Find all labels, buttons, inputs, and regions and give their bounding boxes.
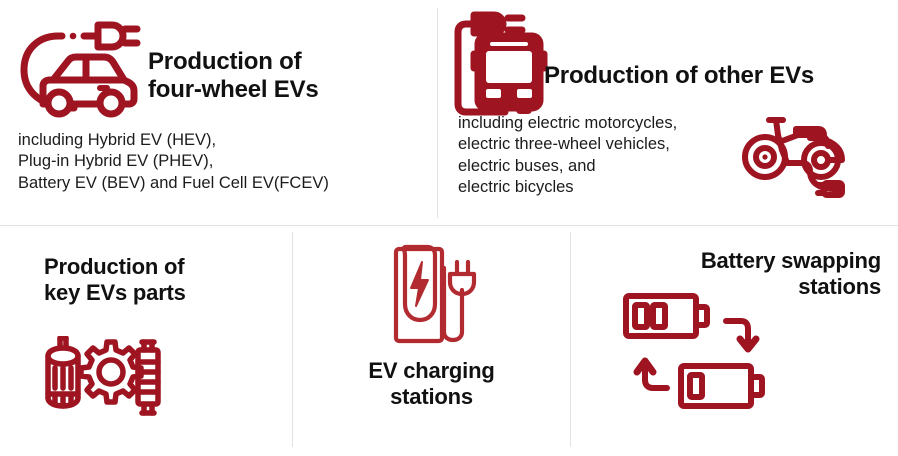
battery-swap-icon <box>623 288 813 418</box>
panel-ev-charging-stations: EV charging stations <box>293 226 570 456</box>
panel-heading-key-parts: Production of key EVs parts <box>44 254 274 305</box>
panel-body-four-wheel: including Hybrid EV (HEV), Plug-in Hybri… <box>18 130 428 194</box>
motor-gear-parts-icon <box>34 336 162 418</box>
panel-body-other-evs: including electric motorcycles, electric… <box>458 113 748 199</box>
panel-heading-charging: EV charging stations <box>293 358 570 409</box>
ev-value-chain-infographic: Production of four-wheel EVs including H… <box>0 0 898 456</box>
electric-scooter-icon <box>738 105 863 205</box>
panel-key-ev-parts: Production of key EVs parts <box>0 226 292 456</box>
panel-heading-other-evs: Production of other EVs <box>544 62 894 90</box>
electric-bus-icon <box>452 10 558 118</box>
panel-battery-swapping-stations: Battery swapping stations <box>571 226 898 456</box>
panel-four-wheel-evs: Production of four-wheel EVs including H… <box>0 0 437 225</box>
electric-car-icon <box>12 14 144 122</box>
charging-station-icon <box>393 244 481 344</box>
panel-heading-four-wheel: Production of four-wheel EVs <box>148 48 418 104</box>
panel-other-evs: Production of other EVs including electr… <box>438 0 898 225</box>
